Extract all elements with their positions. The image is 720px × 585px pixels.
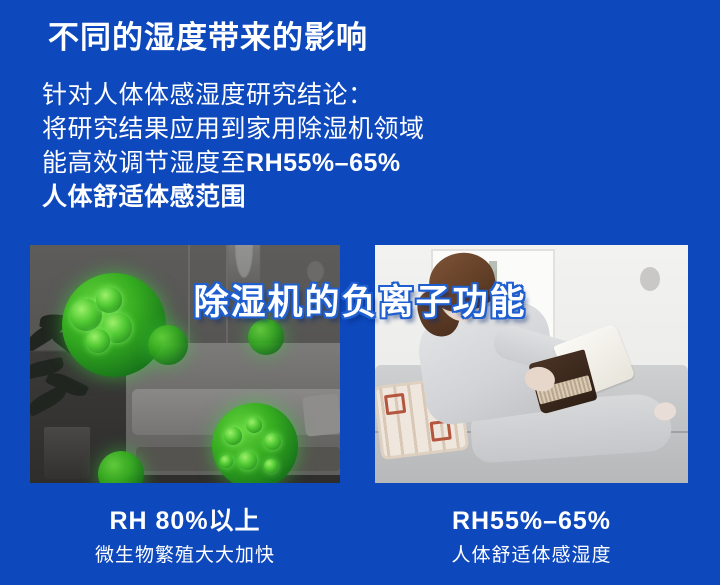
wall-lamp-icon	[307, 261, 324, 282]
microbe-icon	[248, 319, 284, 355]
infographic-page: 不同的湿度带来的影响 针对人体体感湿度研究结论： 将研究结果应用到家用除湿机领域…	[0, 0, 720, 585]
page-title: 不同的湿度带来的影响	[48, 18, 368, 58]
caption-right-sub: 人体舒适体感湿度	[375, 543, 688, 569]
intro-line-1: 针对人体体感湿度研究结论：	[42, 78, 512, 112]
caption-right-main: RH55%–65%	[375, 505, 688, 537]
photo-row	[0, 245, 720, 485]
intro-line-2: 将研究结果应用到家用除湿机领域	[42, 112, 512, 146]
hanging-plant-icon	[228, 245, 260, 303]
dark-room-background	[30, 245, 340, 483]
wall-seam	[188, 245, 190, 353]
wall-lamp-icon	[640, 267, 660, 291]
photo-left-high-humidity	[30, 245, 340, 483]
caption-left-main: RH 80%以上	[30, 505, 340, 537]
caption-right: RH55%–65% 人体舒适体感湿度	[375, 505, 688, 569]
cushion-shape	[302, 393, 340, 437]
caption-left-sub: 微生物繁殖大大加快	[30, 543, 340, 569]
light-room-background	[375, 245, 688, 483]
photo-right-comfort-humidity	[375, 245, 688, 483]
microbe-icon	[148, 325, 188, 365]
intro-line-3-prefix: 能高效调节湿度至	[42, 149, 246, 177]
intro-line-4: 人体舒适体感范围	[42, 180, 512, 214]
intro-line-3: 能高效调节湿度至RH55%–65%	[42, 146, 512, 180]
microbe-icon	[212, 403, 298, 483]
caption-row: RH 80%以上 微生物繁殖大大加快 RH55%–65% 人体舒适体感湿度	[0, 505, 720, 585]
caption-left: RH 80%以上 微生物繁殖大大加快	[30, 505, 340, 569]
intro-line-3-emphasis: RH55%–65%	[246, 149, 401, 177]
intro-text-block: 针对人体体感湿度研究结论： 将研究结果应用到家用除湿机领域 能高效调节湿度至RH…	[42, 78, 512, 214]
microbe-icon	[62, 273, 166, 377]
